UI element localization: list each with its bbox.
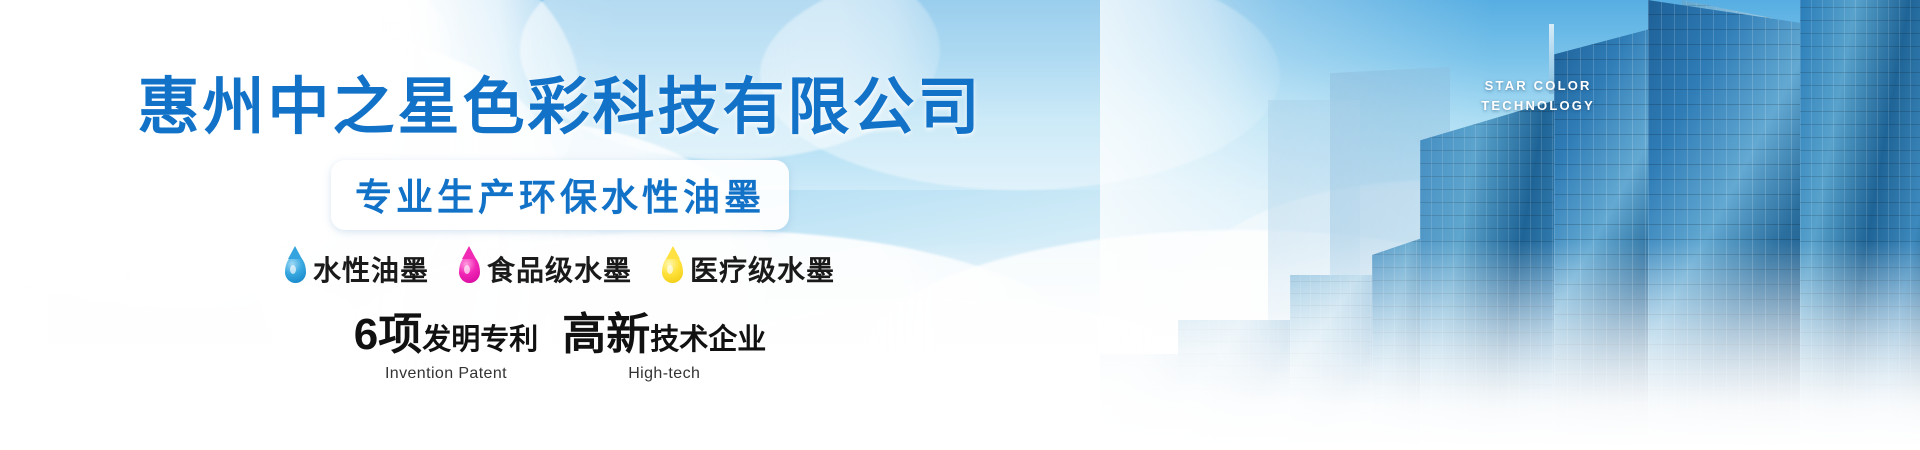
feature-item: 医疗级水墨 bbox=[662, 249, 835, 289]
water-drop-icon bbox=[285, 255, 306, 283]
promo-banner: STAR COLOR TECHNOLOGY Star Color 惠州中之星色彩… bbox=[0, 0, 1920, 450]
badge-high-tech: 高新技术企业 High-tech bbox=[562, 313, 766, 383]
badge-cn-line: 高新技术企业 bbox=[562, 313, 766, 357]
feature-item: 食品级水墨 bbox=[459, 249, 632, 289]
badge-small-text: 发明专利 bbox=[422, 324, 538, 356]
badge-invention-patent: 6项发明专利 Invention Patent bbox=[354, 313, 539, 383]
subtitle-text: 专业生产环保水性油墨 bbox=[355, 177, 765, 218]
feature-label: 医疗级水墨 bbox=[690, 249, 835, 289]
badge-cn-line: 6项发明专利 bbox=[354, 313, 539, 357]
water-drop-icon bbox=[459, 255, 480, 283]
badge-en-text: Invention Patent bbox=[354, 365, 539, 383]
subtitle-pill: 专业生产环保水性油墨 bbox=[331, 160, 789, 230]
company-title: 惠州中之星色彩科技有限公司 bbox=[137, 56, 982, 146]
badge-list: 6项发明专利 Invention Patent 高新技术企业 High-tech bbox=[354, 313, 767, 383]
feature-label: 水性油墨 bbox=[313, 249, 429, 289]
badge-big-text: 高新 bbox=[562, 310, 650, 359]
badge-en-text: High-tech bbox=[562, 365, 766, 383]
banner-content: 惠州中之星色彩科技有限公司 专业生产环保水性油墨 水性油墨 食品级水墨 医疗级水… bbox=[0, 0, 1120, 450]
feature-list: 水性油墨 食品级水墨 医疗级水墨 bbox=[285, 249, 835, 289]
badge-small-text: 技术企业 bbox=[650, 324, 766, 356]
water-drop-icon bbox=[662, 255, 683, 283]
feature-item: 水性油墨 bbox=[285, 249, 429, 289]
feature-label: 食品级水墨 bbox=[487, 249, 632, 289]
antenna-spire bbox=[1549, 24, 1554, 94]
badge-big-text: 6项 bbox=[354, 310, 422, 359]
